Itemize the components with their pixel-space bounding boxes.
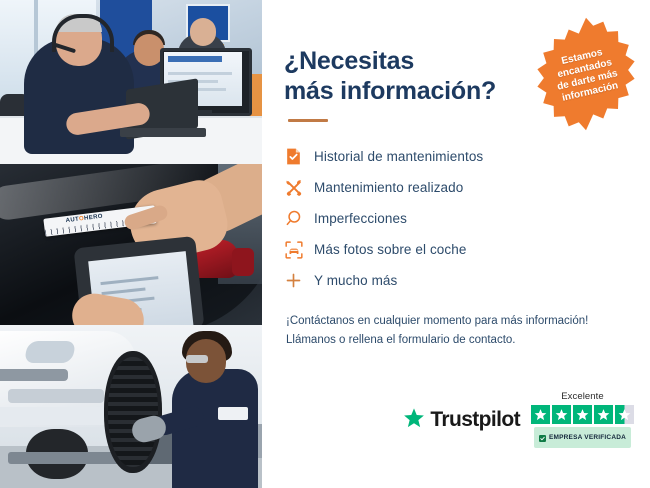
feature-label: Más fotos sobre el coche xyxy=(314,242,466,257)
star-icon xyxy=(594,405,613,424)
feature-label: Mantenimiento realizado xyxy=(314,180,463,195)
star-half-icon xyxy=(615,405,634,424)
feature-item-mantenimiento: Mantenimiento realizado xyxy=(284,172,628,203)
feature-list: Historial de mantenimientos M xyxy=(284,141,628,296)
star-icon xyxy=(573,405,592,424)
verified-company-badge: EMPRESA VERIFICADA xyxy=(534,427,631,448)
feature-label: Imperfecciones xyxy=(314,211,407,226)
verified-label: EMPRESA VERIFICADA xyxy=(549,434,626,441)
trustpilot-rating[interactable]: Trustpilot Excelente xyxy=(403,391,634,448)
star-icon xyxy=(552,405,571,424)
feature-item-historial: Historial de mantenimientos xyxy=(284,141,628,172)
document-check-icon xyxy=(284,147,314,166)
feature-label: Historial de mantenimientos xyxy=(314,149,483,164)
mechanic-logo-patch xyxy=(218,407,248,420)
lower-grille-decor xyxy=(8,389,104,403)
taillight-side-decor xyxy=(232,248,254,276)
call-center-agents-photo xyxy=(0,0,262,164)
rating-label: Excelente xyxy=(561,391,604,402)
badge-text: Estamos encantados de darte más informac… xyxy=(551,45,622,105)
magnifier-icon xyxy=(284,209,314,228)
verified-check-icon xyxy=(539,429,546,447)
information-banner: AUTOHERO xyxy=(0,0,650,488)
safety-glasses-decor xyxy=(186,355,208,363)
tire-tread-decor xyxy=(108,357,158,467)
trustpilot-score-block: Excelente xyxy=(531,391,634,448)
star-rating xyxy=(531,405,634,424)
title-underline-rule xyxy=(288,119,328,122)
trustpilot-logo[interactable]: Trustpilot xyxy=(403,407,520,433)
laptop-base-decor xyxy=(120,128,206,137)
star-icon xyxy=(531,405,550,424)
promo-starburst-badge: Estamos encantados de darte más informac… xyxy=(528,16,644,132)
screen-row-decor xyxy=(168,72,232,75)
feature-label: Y mucho más xyxy=(314,273,397,288)
headlight-decor xyxy=(24,341,77,363)
feature-item-fotos: Más fotos sobre el coche xyxy=(284,234,628,265)
tools-cross-icon xyxy=(284,178,314,198)
mechanic-wheel-photo xyxy=(0,325,262,488)
trustpilot-star-icon xyxy=(403,407,425,433)
grille-decor xyxy=(0,369,68,381)
photo-collage: AUTOHERO xyxy=(0,0,262,488)
trustpilot-wordmark: Trustpilot xyxy=(430,408,520,432)
contact-paragraph: ¡Contáctanos en cualquier momento para m… xyxy=(286,312,628,349)
car-scan-icon xyxy=(284,240,314,260)
feature-item-mas: Y mucho más xyxy=(284,265,628,296)
car-lift-decor xyxy=(8,452,128,464)
ruler-inspection-photo: AUTOHERO xyxy=(0,164,262,325)
agent-back-head xyxy=(190,18,216,46)
content-panel: ¿Necesitas más información? Historial de… xyxy=(262,0,650,488)
bumper-decor xyxy=(0,407,116,425)
screen-header-decor xyxy=(168,56,222,62)
plus-icon xyxy=(284,271,314,290)
feature-item-imperfecciones: Imperfecciones xyxy=(284,203,628,234)
